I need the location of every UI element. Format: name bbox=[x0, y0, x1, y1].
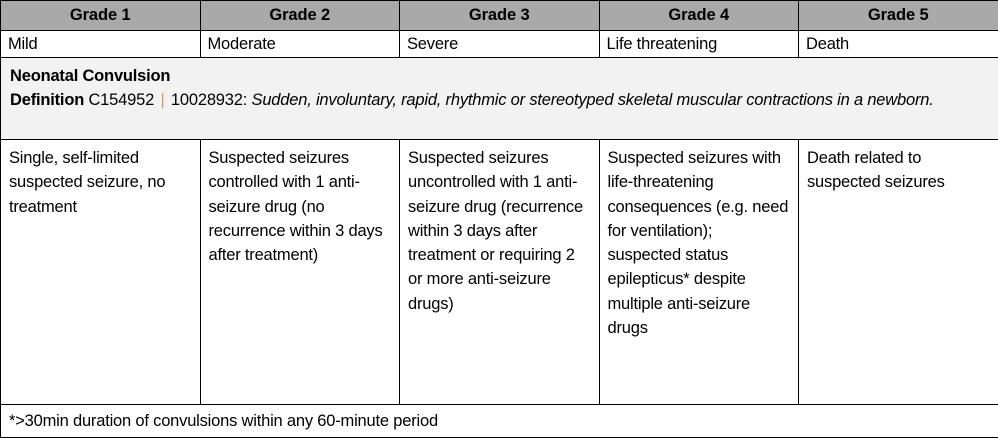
grade-description-grade-2: Suspected seizures controlled with 1 ant… bbox=[200, 140, 400, 405]
grade-description-row: Single, self-limited suspected seizure, … bbox=[1, 140, 998, 405]
severity-label-row: Mild Moderate Severe Life threatening De… bbox=[1, 31, 998, 58]
definition-line: Definition C154952 | 10028932: Sudden, i… bbox=[10, 88, 990, 112]
severity-label-grade-5: Death bbox=[799, 31, 998, 58]
term-name: Neonatal Convulsion bbox=[10, 64, 990, 88]
severity-label-grade-3: Severe bbox=[400, 31, 600, 58]
severity-label-grade-1: Mild bbox=[1, 31, 201, 58]
grade-description-grade-3: Suspected seizures uncontrolled with 1 a… bbox=[400, 140, 600, 405]
footnote-row: *>30min duration of convulsions within a… bbox=[1, 405, 998, 438]
column-header-grade-2: Grade 2 bbox=[200, 1, 400, 31]
ctcae-grading-table: Grade 1 Grade 2 Grade 3 Grade 4 Grade 5 … bbox=[0, 0, 998, 438]
grade-description-grade-5: Death related to suspected seizures bbox=[799, 140, 998, 405]
definition-label: Definition bbox=[10, 91, 88, 109]
grade-description-grade-1: Single, self-limited suspected seizure, … bbox=[1, 140, 201, 405]
severity-label-grade-2: Moderate bbox=[200, 31, 400, 58]
definition-cell: Neonatal Convulsion Definition C154952 |… bbox=[1, 58, 998, 140]
grade-description-grade-4: Suspected seizures with life-threatening… bbox=[599, 140, 799, 405]
definition-separator: | bbox=[158, 91, 166, 109]
severity-label-grade-4: Life threatening bbox=[599, 31, 799, 58]
table-header-row: Grade 1 Grade 2 Grade 3 Grade 4 Grade 5 bbox=[1, 1, 998, 31]
footnote-text: *>30min duration of convulsions within a… bbox=[1, 405, 998, 438]
column-header-grade-1: Grade 1 bbox=[1, 1, 201, 31]
definition-nci-code: C154952 bbox=[88, 91, 158, 109]
column-header-grade-4: Grade 4 bbox=[599, 1, 799, 31]
column-header-grade-5: Grade 5 bbox=[799, 1, 998, 31]
definition-meddra-code: 10028932 bbox=[167, 91, 243, 109]
definition-row: Neonatal Convulsion Definition C154952 |… bbox=[1, 58, 998, 140]
column-header-grade-3: Grade 3 bbox=[400, 1, 600, 31]
ctcae-grading-table-page: Grade 1 Grade 2 Grade 3 Grade 4 Grade 5 … bbox=[0, 0, 998, 438]
definition-text: Sudden, involuntary, rapid, rhythmic or … bbox=[247, 91, 933, 109]
